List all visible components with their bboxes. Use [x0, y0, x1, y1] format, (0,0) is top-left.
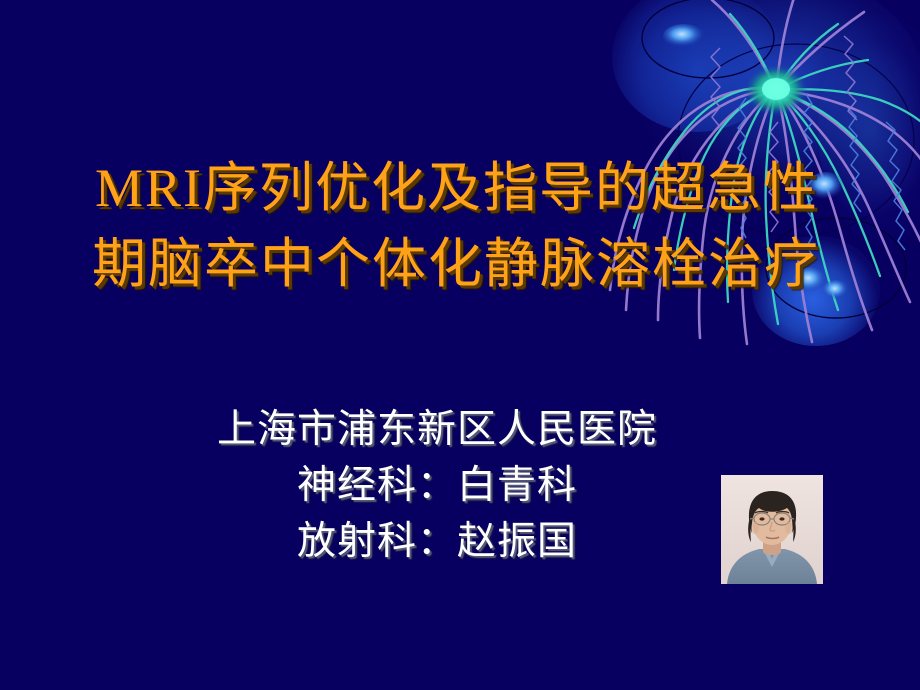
slide-title: MRI序列优化及指导的超急性 期脑卒中个体化静脉溶栓治疗	[0, 150, 920, 302]
subtitle-institution: 上海市浦东新区人民医院	[0, 402, 920, 458]
background-glow-top	[612, 0, 782, 132]
title-line-1: MRI序列优化及指导的超急性	[0, 150, 920, 226]
presentation-slide: MRI序列优化及指导的超急性 期脑卒中个体化静脉溶栓治疗 上海市浦东新区人民医院…	[0, 0, 920, 690]
title-line-2: 期脑卒中个体化静脉溶栓治疗	[0, 226, 920, 302]
speaker-portrait-photo	[721, 475, 823, 584]
